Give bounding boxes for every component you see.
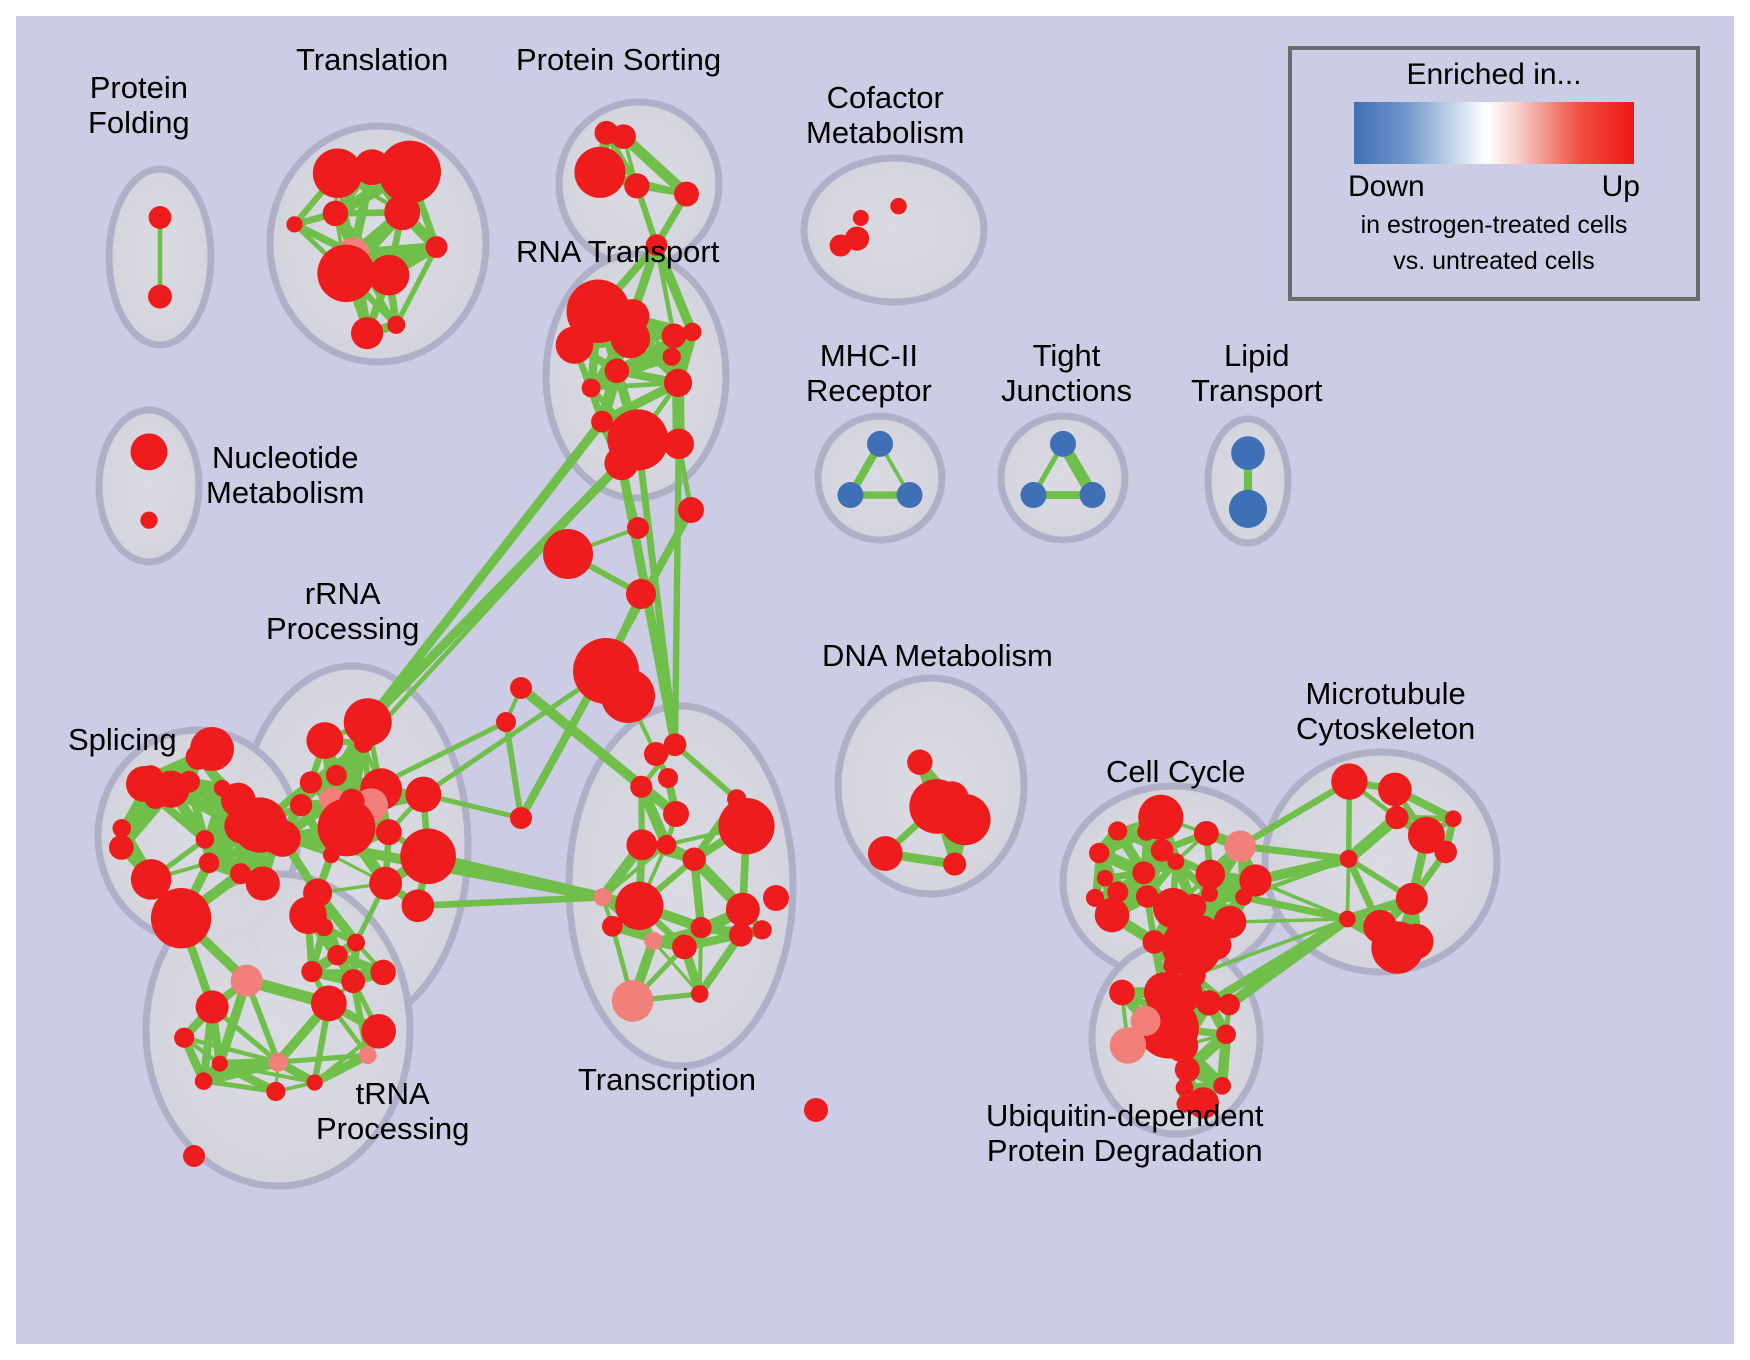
gene-set-node[interactable] xyxy=(663,429,694,460)
gene-set-node[interactable] xyxy=(752,920,771,939)
gene-set-node[interactable] xyxy=(300,771,322,793)
gene-set-node[interactable] xyxy=(196,990,229,1023)
gene-set-node[interactable] xyxy=(690,917,711,938)
legend-color-bar xyxy=(1354,102,1634,164)
gene-set-node[interactable] xyxy=(595,121,619,145)
gene-set-node[interactable] xyxy=(1050,431,1076,457)
gene-set-node[interactable] xyxy=(230,863,251,884)
gene-set-node[interactable] xyxy=(1385,806,1408,829)
gene-set-node[interactable] xyxy=(605,359,630,384)
gene-set-node[interactable] xyxy=(627,517,649,539)
cluster-label-mhc-ii-receptor: MHC-II Receptor xyxy=(806,338,932,408)
gene-set-node[interactable] xyxy=(662,323,687,348)
gene-set-node[interactable] xyxy=(853,210,869,226)
gene-set-node[interactable] xyxy=(318,799,376,857)
gene-set-node[interactable] xyxy=(1371,921,1423,973)
gene-set-node[interactable] xyxy=(602,916,623,937)
gene-set-node[interactable] xyxy=(402,889,435,922)
gene-set-node[interactable] xyxy=(718,798,774,854)
gene-set-node[interactable] xyxy=(890,198,906,214)
gene-set-node[interactable] xyxy=(727,789,746,808)
gene-set-node[interactable] xyxy=(1110,1027,1146,1063)
legend-caption-line1: in estrogen-treated cells xyxy=(1292,210,1696,240)
cluster-label-splicing: Splicing xyxy=(68,722,177,757)
gene-set-node[interactable] xyxy=(323,201,349,227)
gene-set-node[interactable] xyxy=(341,969,365,993)
gene-set-node[interactable] xyxy=(674,182,699,207)
gene-set-node[interactable] xyxy=(1396,883,1428,915)
figure-root: Protein FoldingTranslationProtein Sortin… xyxy=(0,0,1750,1360)
gene-set-node[interactable] xyxy=(109,835,134,860)
gene-set-node[interactable] xyxy=(306,722,343,759)
gene-set-node[interactable] xyxy=(658,768,678,788)
gene-set-node[interactable] xyxy=(612,980,654,1022)
gene-set-node[interactable] xyxy=(624,173,649,198)
gene-set-node[interactable] xyxy=(174,1028,194,1048)
gene-set-node[interactable] xyxy=(1166,1030,1199,1063)
gene-set-node[interactable] xyxy=(1176,1079,1194,1097)
gene-set-node[interactable] xyxy=(376,819,402,845)
gene-set-node[interactable] xyxy=(1445,810,1462,827)
gene-set-node[interactable] xyxy=(347,934,365,952)
gene-set-node[interactable] xyxy=(1340,850,1358,868)
legend-high-label: Up xyxy=(1602,170,1640,204)
gene-set-node[interactable] xyxy=(190,727,234,771)
gene-set-node[interactable] xyxy=(231,965,263,997)
gene-set-node[interactable] xyxy=(1132,861,1155,884)
gene-set-node[interactable] xyxy=(1080,482,1106,508)
gene-set-node[interactable] xyxy=(543,529,593,579)
edge xyxy=(1347,859,1348,919)
gene-set-node[interactable] xyxy=(1378,773,1412,807)
gene-set-node[interactable] xyxy=(195,1072,213,1090)
bridge-edge xyxy=(675,444,679,745)
gene-set-node[interactable] xyxy=(1331,763,1367,799)
gene-set-node[interactable] xyxy=(663,801,689,827)
legend-endpoints: Down Up xyxy=(1292,170,1696,204)
cluster-label-protein-folding: Protein Folding xyxy=(88,70,190,140)
gene-set-node[interactable] xyxy=(426,236,448,258)
gene-set-node[interactable] xyxy=(315,919,333,937)
cluster-label-trna-processing: tRNA Processing xyxy=(316,1076,469,1146)
gene-set-node[interactable] xyxy=(837,482,863,508)
gene-set-node[interactable] xyxy=(406,777,442,813)
gene-set-node[interactable] xyxy=(1137,822,1156,841)
gene-set-node[interactable] xyxy=(510,807,532,829)
cluster-label-cell-cycle: Cell Cycle xyxy=(1106,754,1246,789)
gene-set-node[interactable] xyxy=(242,816,266,840)
gene-set-node[interactable] xyxy=(907,750,932,775)
gene-set-node[interactable] xyxy=(313,148,362,197)
gene-set-node[interactable] xyxy=(644,932,662,950)
gene-set-node[interactable] xyxy=(867,431,893,457)
cluster-label-dna-metabolism: DNA Metabolism xyxy=(822,638,1053,673)
gene-set-node[interactable] xyxy=(626,829,657,860)
gene-set-node[interactable] xyxy=(909,779,964,834)
cluster-label-microtubule-cytoskeleton: Microtubule Cytoskeleton xyxy=(1296,676,1475,746)
gene-set-node[interactable] xyxy=(1095,898,1130,933)
legend-box: Enriched in... Down Up in estrogen-treat… xyxy=(1288,46,1700,301)
gene-set-node[interactable] xyxy=(286,216,302,232)
gene-set-node[interactable] xyxy=(567,280,630,343)
gene-set-node[interactable] xyxy=(361,1014,396,1049)
gene-set-node[interactable] xyxy=(131,433,168,470)
gene-set-node[interactable] xyxy=(496,712,516,732)
gene-set-node[interactable] xyxy=(140,512,157,529)
gene-set-node[interactable] xyxy=(604,446,638,480)
gene-set-node[interactable] xyxy=(149,206,172,229)
cluster-label-ubiquitin-dependent-protein-degradation: Ubiquitin-dependent Protein Degradation xyxy=(986,1098,1264,1168)
gene-set-node[interactable] xyxy=(644,742,668,766)
gene-set-node[interactable] xyxy=(943,853,966,876)
gene-set-node[interactable] xyxy=(763,885,789,911)
gene-set-node[interactable] xyxy=(1109,980,1135,1006)
cluster-label-nucleotide-metabolism: Nucleotide Metabolism xyxy=(206,440,365,510)
gene-set-node[interactable] xyxy=(1136,885,1159,908)
gene-set-node[interactable] xyxy=(266,1082,285,1101)
gene-set-node[interactable] xyxy=(400,828,456,884)
gene-set-node[interactable] xyxy=(148,285,172,309)
cluster-label-transcription: Transcription xyxy=(578,1062,756,1097)
gene-set-node[interactable] xyxy=(1434,841,1457,864)
gene-set-node[interactable] xyxy=(311,985,347,1021)
gene-set-node[interactable] xyxy=(131,859,172,900)
gene-set-node[interactable] xyxy=(1224,830,1256,862)
gene-set-node[interactable] xyxy=(691,985,709,1003)
cluster-label-rna-transport: RNA Transport xyxy=(516,234,719,269)
gene-set-node[interactable] xyxy=(1194,821,1219,846)
gene-set-node[interactable] xyxy=(327,945,347,965)
gene-set-node[interactable] xyxy=(112,819,131,838)
gene-set-node[interactable] xyxy=(594,888,612,906)
gene-set-node[interactable] xyxy=(678,497,704,523)
gene-set-node[interactable] xyxy=(804,1098,828,1122)
gene-set-node[interactable] xyxy=(1229,490,1267,528)
gene-set-node[interactable] xyxy=(1195,860,1225,890)
gene-set-node[interactable] xyxy=(326,765,347,786)
cluster-ellipse xyxy=(804,158,984,302)
gene-set-node[interactable] xyxy=(1108,821,1127,840)
gene-set-node[interactable] xyxy=(1162,916,1222,976)
gene-set-node[interactable] xyxy=(729,923,753,947)
gene-set-node[interactable] xyxy=(212,1056,228,1072)
gene-set-node[interactable] xyxy=(615,882,663,930)
gene-set-node[interactable] xyxy=(370,960,396,986)
gene-set-node[interactable] xyxy=(1339,911,1356,928)
gene-set-node[interactable] xyxy=(682,847,705,870)
gene-set-node[interactable] xyxy=(574,147,625,198)
gene-set-node[interactable] xyxy=(354,149,390,185)
gene-set-node[interactable] xyxy=(1097,870,1114,887)
gene-set-node[interactable] xyxy=(359,1046,377,1064)
gene-set-node[interactable] xyxy=(672,934,697,959)
network-canvas: Protein FoldingTranslationProtein Sortin… xyxy=(16,16,1734,1344)
cluster-label-tight-junctions: Tight Junctions xyxy=(1001,338,1132,408)
gene-set-node[interactable] xyxy=(303,879,332,908)
gene-set-node[interactable] xyxy=(269,1053,288,1072)
legend-low-label: Down xyxy=(1348,170,1425,204)
gene-set-node[interactable] xyxy=(897,482,923,508)
gene-set-node[interactable] xyxy=(351,317,383,349)
gene-set-node[interactable] xyxy=(1020,482,1046,508)
gene-set-node[interactable] xyxy=(630,776,652,798)
gene-set-node[interactable] xyxy=(344,698,392,746)
gene-set-node[interactable] xyxy=(1231,436,1265,470)
gene-set-node[interactable] xyxy=(1151,839,1174,862)
gene-set-node[interactable] xyxy=(199,853,220,874)
legend-caption-line2: vs. untreated cells xyxy=(1292,246,1696,276)
gene-set-node[interactable] xyxy=(591,411,613,433)
gene-set-node[interactable] xyxy=(183,1145,205,1167)
gene-set-node[interactable] xyxy=(301,961,322,982)
gene-set-node[interactable] xyxy=(1089,843,1109,863)
gene-set-node[interactable] xyxy=(1196,990,1221,1015)
gene-set-node[interactable] xyxy=(868,836,903,871)
gene-set-node[interactable] xyxy=(601,669,655,723)
gene-set-node[interactable] xyxy=(1216,1024,1236,1044)
gene-set-node[interactable] xyxy=(582,378,601,397)
legend-title: Enriched in... xyxy=(1292,58,1696,92)
cluster-label-protein-sorting: Protein Sorting xyxy=(516,42,721,77)
gene-set-node[interactable] xyxy=(1235,889,1252,906)
cluster-label-lipid-transport: Lipid Transport xyxy=(1191,338,1323,408)
gene-set-node[interactable] xyxy=(845,227,869,251)
gene-set-node[interactable] xyxy=(387,316,405,334)
gene-set-node[interactable] xyxy=(663,348,681,366)
gene-set-node[interactable] xyxy=(626,579,656,609)
cluster-label-cofactor-metabolism: Cofactor Metabolism xyxy=(806,80,965,150)
cluster-ellipse xyxy=(99,410,199,562)
cluster-label-translation: Translation xyxy=(296,42,448,77)
gene-set-node[interactable] xyxy=(1213,1077,1231,1095)
cluster-label-rrna-processing: rRNA Processing xyxy=(266,576,419,646)
gene-set-node[interactable] xyxy=(317,245,375,303)
gene-set-node[interactable] xyxy=(196,830,215,849)
gene-set-node[interactable] xyxy=(510,677,532,699)
gene-set-node[interactable] xyxy=(290,794,312,816)
gene-set-node[interactable] xyxy=(126,766,162,802)
gene-set-node[interactable] xyxy=(664,369,692,397)
gene-set-node[interactable] xyxy=(369,867,402,900)
gene-set-node[interactable] xyxy=(657,835,677,855)
gene-set-node[interactable] xyxy=(726,893,760,927)
